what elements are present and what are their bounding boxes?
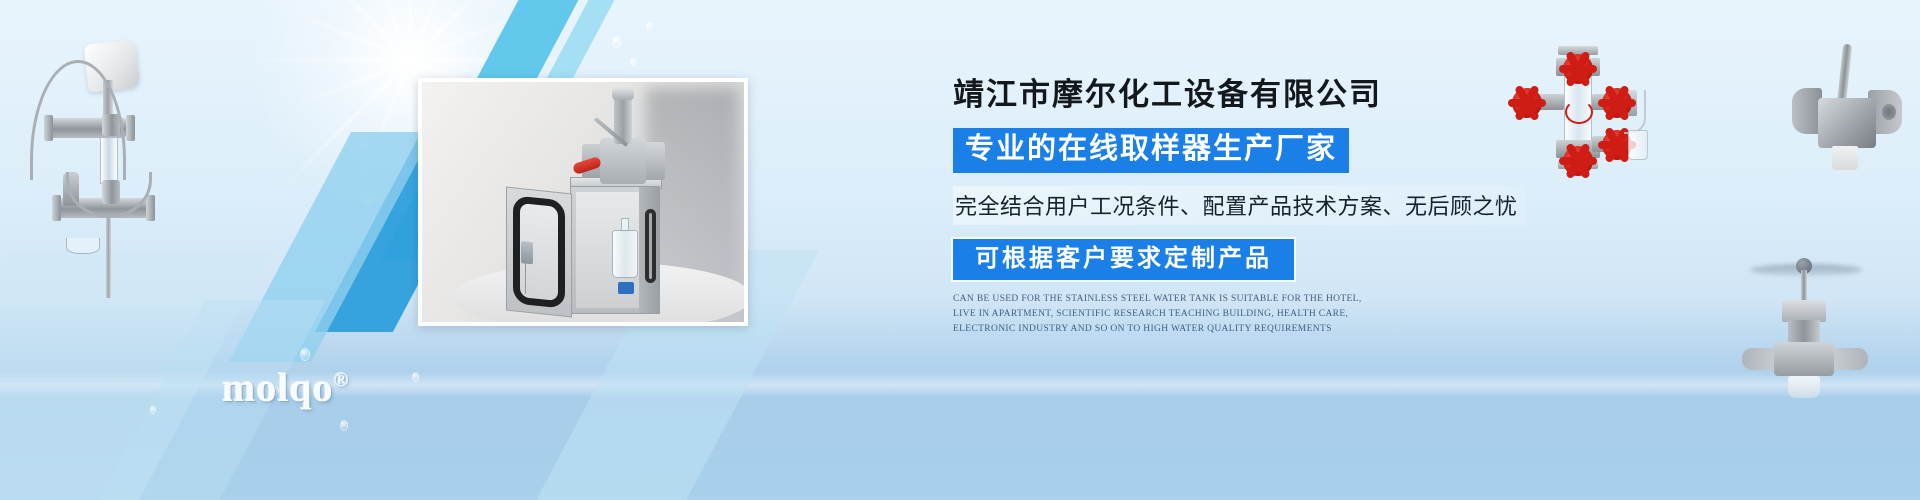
- company-name: 靖江市摩尔化工设备有限公司: [953, 76, 1593, 115]
- sub-headline: 完全结合用户工况条件、配置产品技术方案、无后顾之忧: [953, 186, 1526, 225]
- product-seal-icon: [1562, 98, 1592, 122]
- watermark-logo: molqo®: [222, 364, 350, 411]
- lens-flare-icon: [360, 192, 376, 208]
- registered-mark-icon: ®: [334, 370, 350, 392]
- callout-badge: 可根据客户要求定制产品: [953, 239, 1294, 280]
- banner-copy: 靖江市摩尔化工设备有限公司 专业的在线取样器生产厂家 完全结合用户工况条件、配置…: [953, 76, 1593, 337]
- decorative-diagonal-bar: [229, 132, 433, 362]
- bottom-valve-image: [1742, 236, 1872, 396]
- water-droplet-icon: [300, 348, 310, 361]
- red-handwheel-icon: [1563, 146, 1593, 176]
- water-droplet-icon: [630, 58, 636, 66]
- cross-sampler-image: [1506, 32, 1696, 182]
- lens-flare-icon: [352, 132, 374, 154]
- water-droplet-icon: [150, 406, 156, 414]
- headline-badge: 专业的在线取样器生产厂家: [953, 128, 1349, 173]
- red-handwheel-icon: [1512, 88, 1542, 118]
- red-handwheel-icon: [1563, 54, 1593, 84]
- main-product-photo[interactable]: [418, 78, 748, 326]
- water-droplet-icon: [646, 22, 653, 31]
- water-droplet-icon: [340, 420, 348, 431]
- left-product-image: [8, 22, 168, 292]
- promo-banner: 靖江市摩尔化工设备有限公司 专业的在线取样器生产厂家 完全结合用户工况条件、配置…: [0, 0, 1920, 500]
- english-description: CAN BE USED FOR THE STAINLESS STEEL WATE…: [953, 292, 1373, 336]
- water-droplet-icon: [412, 372, 419, 382]
- lever-valve-image: [1790, 40, 1910, 190]
- water-droplet-icon: [612, 36, 621, 48]
- watermark-text: molqo: [222, 365, 334, 410]
